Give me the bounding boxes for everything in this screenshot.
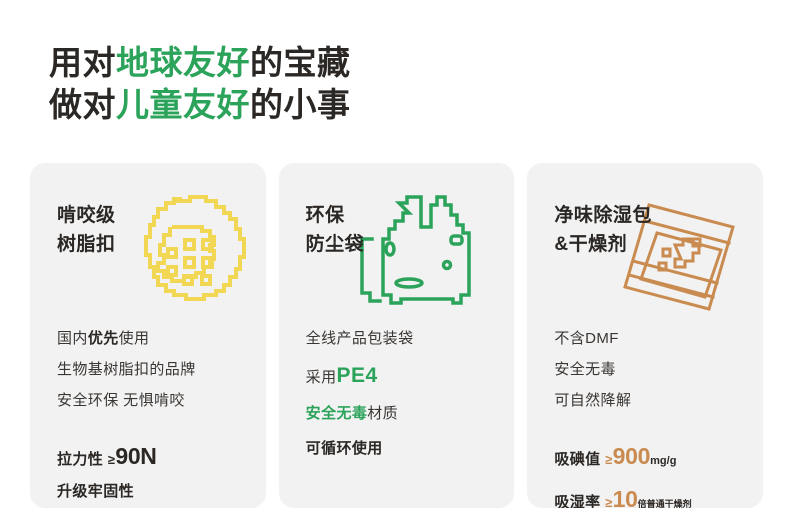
headline-line-1: 用对地球友好的宝藏 bbox=[49, 42, 351, 84]
body-seg: 使用 bbox=[119, 330, 150, 347]
card-body-text: 不含DMF 安全无毒 可自然降解 bbox=[554, 323, 631, 416]
card-stats: 吸碘值 ≥900mg/g 吸湿率 ≥10倍普通干燥剂 bbox=[554, 435, 691, 508]
stat-label: 可循环使用 bbox=[306, 440, 383, 457]
stat-value: 900 bbox=[613, 443, 650, 469]
body-line: 国内优先使用 bbox=[57, 323, 196, 354]
card-title-line-1: 环保 bbox=[306, 201, 365, 230]
stat-line: 可循环使用 bbox=[306, 435, 383, 463]
body-seg: 材质 bbox=[367, 405, 398, 422]
stat-line: 升级牢固性 bbox=[57, 478, 157, 506]
body-line: 采用PE4 bbox=[306, 354, 414, 397]
body-seg-strong: 优先 bbox=[88, 330, 119, 347]
card-title-line-1: 啃咬级 bbox=[57, 201, 116, 230]
stat-unit: 倍普通干燥剂 bbox=[638, 499, 692, 508]
card-title-line-2: &干燥剂 bbox=[554, 230, 652, 259]
stat-label: 拉力性 bbox=[57, 451, 103, 468]
stat-value: 90N bbox=[115, 443, 156, 469]
card-stats: 拉力性 ≥90N 升级牢固性 bbox=[57, 435, 157, 505]
body-seg: 生物基树脂扣的品牌 bbox=[57, 361, 196, 378]
body-seg: 可自然降解 bbox=[554, 392, 631, 409]
headline-seg: 做对 bbox=[49, 86, 116, 123]
card-title-line-1: 净味除湿包 bbox=[554, 201, 652, 230]
card-title-line-2: 树脂扣 bbox=[57, 230, 116, 259]
body-seg-green: 安全无毒 bbox=[306, 405, 368, 422]
feature-card-resin-buckle[interactable]: 啃咬级 树脂扣 bbox=[30, 163, 266, 508]
headline-seg: 用对 bbox=[49, 44, 116, 81]
stat-label: 升级牢固性 bbox=[57, 483, 134, 500]
stat-unit: mg/g bbox=[650, 455, 676, 467]
body-seg: 全线产品包装袋 bbox=[306, 330, 414, 347]
pixel-resin-buckle-icon bbox=[128, 189, 258, 324]
body-line: 不含DMF bbox=[554, 323, 631, 354]
pixel-dust-bag-icon bbox=[347, 183, 487, 323]
card-body-text: 国内优先使用 生物基树脂扣的品牌 安全环保 无惧啃咬 bbox=[57, 323, 196, 416]
stat-line: 拉力性 ≥90N bbox=[57, 435, 157, 478]
card-heading: 啃咬级 树脂扣 bbox=[57, 201, 116, 260]
body-seg: 安全无毒 bbox=[554, 361, 616, 378]
feature-card-eco-dust-bag[interactable]: 环保 防尘袋 全线产品包装袋 采用PE4 bbox=[279, 163, 515, 508]
headline-seg-green: 儿童友好 bbox=[116, 86, 250, 123]
body-seg: 不含DMF bbox=[554, 330, 619, 347]
body-line: 生物基树脂扣的品牌 bbox=[57, 354, 196, 385]
card-body-text: 全线产品包装袋 采用PE4 安全无毒材质 bbox=[306, 323, 414, 429]
stat-gte-symbol: ≥ bbox=[605, 495, 613, 508]
stat-value: 10 bbox=[613, 486, 638, 508]
feature-card-list: 啃咬级 树脂扣 bbox=[30, 163, 763, 508]
page-headline: 用对地球友好的宝藏 做对儿童友好的小事 bbox=[49, 42, 351, 126]
stat-line: 吸碘值 ≥900mg/g bbox=[554, 435, 691, 478]
body-line: 全线产品包装袋 bbox=[306, 323, 414, 354]
headline-seg: 的宝藏 bbox=[250, 44, 351, 81]
body-seg-green-big: PE4 bbox=[336, 364, 377, 387]
headline-line-2: 做对儿童友好的小事 bbox=[49, 84, 351, 126]
body-seg: 采用 bbox=[306, 369, 337, 386]
body-line: 安全无毒材质 bbox=[306, 398, 414, 429]
card-heading: 净味除湿包 &干燥剂 bbox=[554, 201, 652, 260]
card-title-line-2: 防尘袋 bbox=[306, 230, 365, 259]
body-line: 安全无毒 bbox=[554, 354, 631, 385]
feature-card-deodorizing-desiccant[interactable]: 净味除湿包 &干燥剂 不含DMF bbox=[527, 163, 763, 508]
stat-gte-symbol: ≥ bbox=[605, 452, 613, 467]
card-stats: 可循环使用 bbox=[306, 435, 383, 463]
card-heading: 环保 防尘袋 bbox=[306, 201, 365, 260]
body-line: 安全环保 无惧啃咬 bbox=[57, 385, 196, 416]
body-seg: 国内 bbox=[57, 330, 88, 347]
body-seg: 安全环保 无惧啃咬 bbox=[57, 392, 185, 409]
stat-label: 吸碘值 bbox=[554, 451, 600, 468]
stat-line: 吸湿率 ≥10倍普通干燥剂 bbox=[554, 478, 691, 508]
headline-seg-green: 地球友好 bbox=[116, 44, 250, 81]
headline-seg: 的小事 bbox=[250, 86, 351, 123]
stat-label: 吸湿率 bbox=[554, 494, 600, 508]
body-line: 可自然降解 bbox=[554, 385, 631, 416]
